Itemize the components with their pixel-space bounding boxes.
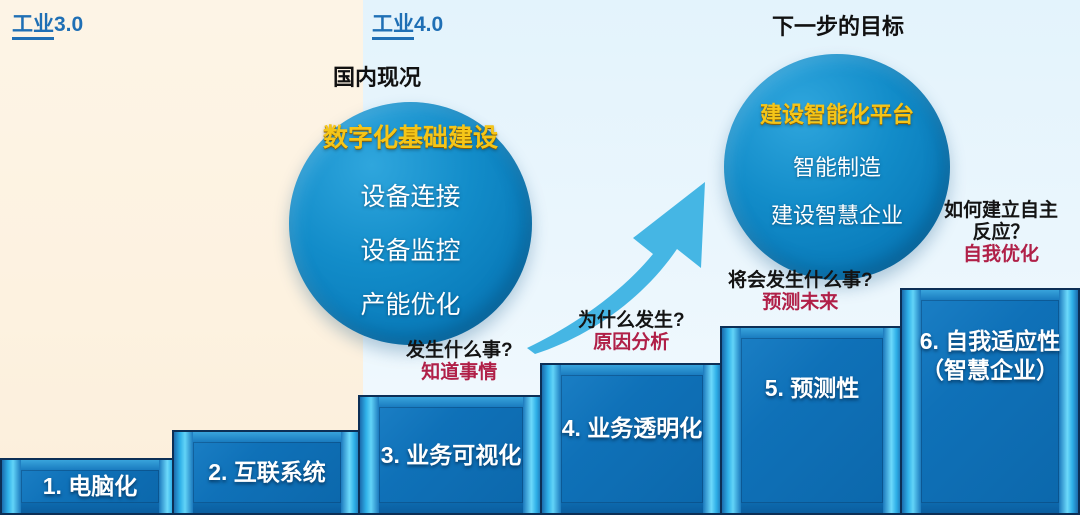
circle-current-state: 数字化基础建设 设备连接 设备监控 产能优化	[289, 102, 532, 345]
step-bar-6[interactable]: 6. 自我适应性 （智慧企业）	[900, 288, 1080, 515]
annotation-step-6: 如何建立自主 反应？ 自我优化	[944, 200, 1058, 266]
era-4-version: 4.0	[414, 13, 443, 36]
circle-current-line-1: 设备连接	[360, 177, 460, 213]
step-2-label: 2. 互联系统	[174, 432, 360, 513]
circle-future-title: 建设智能化平台	[760, 97, 914, 129]
annotation-4-answer: 原因分析	[578, 332, 685, 355]
annotation-6-answer: 自我优化	[944, 244, 1058, 267]
step-bar-2[interactable]: 2. 互联系统	[172, 430, 362, 515]
step-bar-3[interactable]: 3. 业务可视化	[358, 395, 544, 515]
circle-current-line-2: 设备监控	[360, 231, 460, 267]
diagram-canvas: 工业3.0 工业4.0 国内现况 下一步的目标 数字化基础建设 设备连接 设备监…	[0, 0, 1080, 515]
step-3-label: 3. 业务可视化	[360, 397, 542, 513]
annotation-step-4: 为什么发生? 原因分析	[578, 310, 685, 355]
annotation-6-question-line-2: 反应？	[944, 222, 1058, 244]
annotation-6-question-line-1: 如何建立自主	[944, 200, 1058, 222]
era-label-industry-4: 工业4.0	[372, 8, 443, 38]
era-3-version: 3.0	[54, 13, 83, 36]
step-6-label-line-2: （智慧企业）	[920, 356, 1061, 385]
circle-current-title: 数字化基础建设	[323, 118, 498, 154]
era-label-industry-3: 工业3.0	[12, 8, 83, 38]
annotation-3-question: 发生什么事?	[406, 340, 513, 362]
annotation-step-5: 将会发生什么事? 预测未来	[728, 270, 873, 315]
circle-current-line-3: 产能优化	[360, 285, 460, 321]
annotation-3-answer: 知道事情	[406, 362, 513, 385]
step-bar-1[interactable]: 1. 电脑化	[0, 458, 180, 515]
annotation-5-question: 将会发生什么事?	[728, 270, 873, 292]
era-3-underlined-text: 工业	[12, 13, 54, 40]
step-4-label: 4. 业务透明化	[542, 365, 722, 513]
circle-future-line-2: 建设智慧企业	[771, 198, 903, 230]
step-6-label: 6. 自我适应性 （智慧企业）	[902, 290, 1078, 513]
annotation-step-3: 发生什么事? 知道事情	[406, 340, 513, 385]
circle-future-line-1: 智能制造	[793, 150, 881, 182]
annotation-4-question: 为什么发生?	[578, 310, 685, 332]
circle-future-goal: 建设智能化平台 智能制造 建设智慧企业	[724, 54, 950, 280]
step-1-label: 1. 电脑化	[2, 460, 178, 513]
step-5-label: 5. 预测性	[722, 328, 902, 513]
era-4-underlined-text: 工业	[372, 13, 414, 40]
caption-domestic-status: 国内现况	[333, 60, 421, 92]
annotation-5-answer: 预测未来	[728, 292, 873, 315]
step-bar-5[interactable]: 5. 预测性	[720, 326, 904, 515]
step-6-label-line-1: 6. 自我适应性	[920, 327, 1061, 356]
step-bar-4[interactable]: 4. 业务透明化	[540, 363, 724, 515]
caption-next-goal: 下一步的目标	[772, 9, 904, 41]
